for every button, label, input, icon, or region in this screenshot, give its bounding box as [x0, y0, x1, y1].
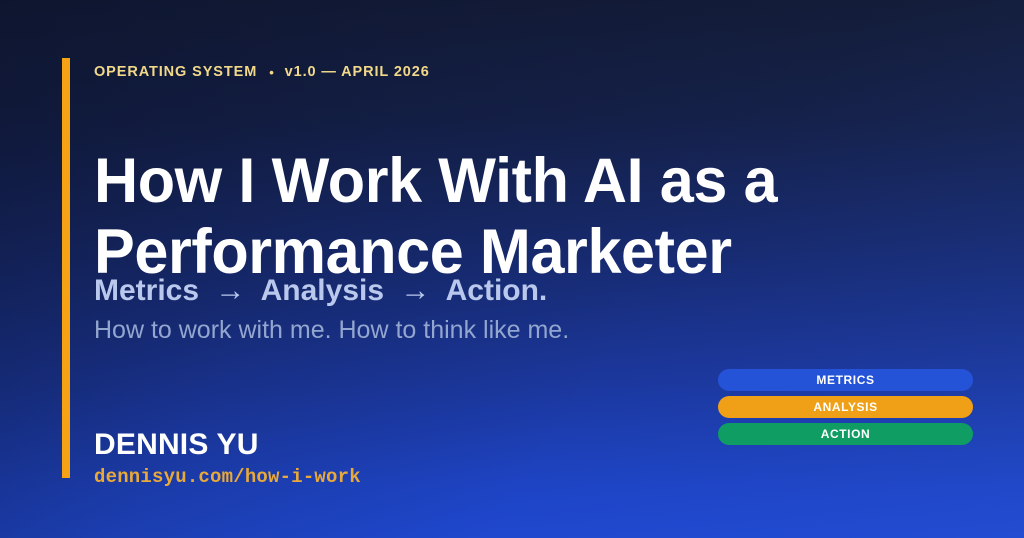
pill-action-label: ACTION	[821, 427, 871, 441]
pill-analysis-label: ANALYSIS	[813, 400, 877, 414]
title-line-1: How I Work With AI as a	[94, 146, 860, 217]
pill-metrics-label: METRICS	[816, 373, 874, 387]
pill-metrics[interactable]: METRICS	[718, 369, 973, 391]
tagline-text: How to work with me. How to think like m…	[94, 316, 569, 345]
eyebrow-line: OPERATING SYSTEM • v1.0 — APRIL 2026	[94, 64, 430, 80]
arrow-right-icon: →	[215, 274, 245, 307]
author-url-link[interactable]: dennisyu.com/how-i-work	[94, 466, 361, 488]
author-name: DENNIS YU	[94, 428, 259, 462]
bullet-separator-icon: •	[269, 65, 274, 80]
left-accent-bar	[62, 58, 70, 478]
page-title: How I Work With AI as a Performance Mark…	[94, 146, 860, 287]
eyebrow-version: v1.0 — APRIL 2026	[285, 64, 430, 80]
pill-action[interactable]: ACTION	[718, 423, 973, 445]
subtitle-step-analysis: Analysis	[261, 274, 384, 307]
subtitle-step-metrics: Metrics	[94, 274, 199, 307]
slide-content: OPERATING SYSTEM • v1.0 — APRIL 2026 How…	[94, 0, 994, 538]
presentation-slide: OPERATING SYSTEM • v1.0 — APRIL 2026 How…	[0, 0, 1024, 538]
subtitle-framework: Metrics → Analysis → Action.	[94, 274, 547, 308]
framework-pill-stack: METRICS ANALYSIS ACTION	[718, 369, 973, 445]
subtitle-step-action: Action.	[446, 274, 548, 307]
eyebrow-label: OPERATING SYSTEM	[94, 64, 257, 80]
arrow-right-icon: →	[400, 274, 430, 307]
pill-analysis[interactable]: ANALYSIS	[718, 396, 973, 418]
